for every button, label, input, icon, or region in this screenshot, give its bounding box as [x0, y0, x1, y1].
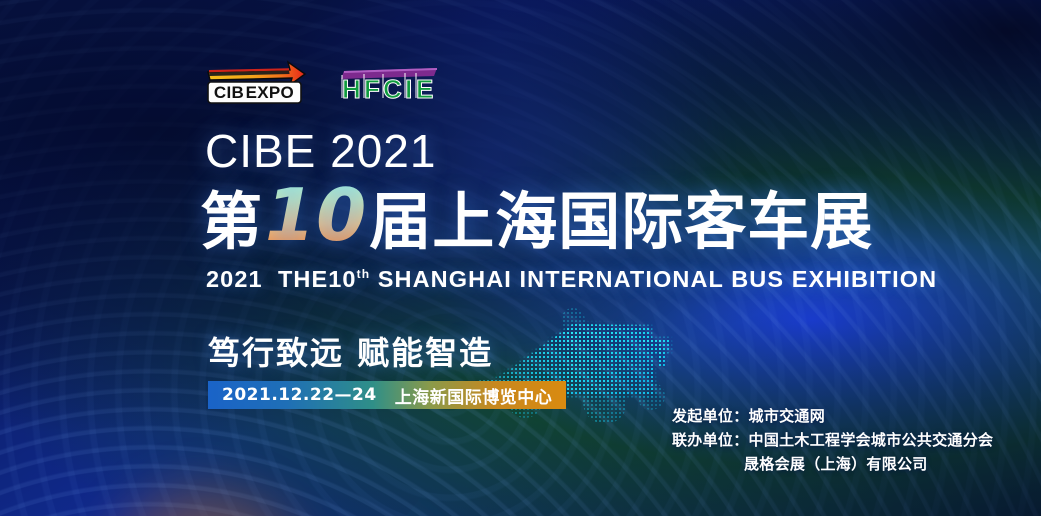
title-edition-number: 10 [263, 180, 369, 250]
event-dates: 2021.12.22—24 [222, 385, 377, 405]
svg-text:F: F [364, 74, 381, 104]
organizer-row-coorganizer-2: 晟格会展（上海）有限公司 [672, 452, 993, 476]
svg-text:I: I [405, 74, 413, 104]
subtitle-ordinal-suffix: th [357, 267, 371, 281]
organizer-row-coorganizer: 联办单位： 中国土木工程学会城市公共交通分会 [672, 428, 993, 452]
date-venue-bar: 2021.12.22—24 上海新国际博览中心 [208, 381, 566, 409]
organizers-block: 发起单位： 城市交通网 联办单位： 中国土木工程学会城市公共交通分会 晟格会展（… [672, 404, 993, 476]
svg-text:E: E [416, 74, 434, 104]
subtitle-rest: SHANGHAI INTERNATIONAL BUS EXHIBITION [378, 266, 937, 292]
svg-text:CIBEXPO: CIBEXPO [214, 83, 294, 102]
organizer-row-initiator: 发起单位： 城市交通网 [672, 404, 993, 428]
poster-content: CIBEXPO CIBEXPO H F C I E [0, 0, 1041, 516]
title-cn-prefix: 第 [200, 185, 263, 258]
svg-text:C: C [383, 74, 403, 104]
title-chinese: 第10届上海国际客车展 [200, 183, 873, 257]
organizer-value-initiator: 城市交通网 [749, 404, 826, 428]
organizer-label-coorganizer: 联办单位： [672, 428, 749, 452]
subtitle-year: 2021 [206, 266, 263, 292]
subtitle-english: 2021 THE10th SHANGHAI INTERNATIONAL BUS … [206, 266, 937, 293]
title-cn-suffix: 届上海国际客车展 [369, 185, 873, 258]
event-poster: CIBEXPO CIBEXPO H F C I E [0, 0, 1041, 516]
organizer-value-coorganizer: 中国土木工程学会城市公共交通分会 [749, 428, 994, 452]
slogan: 笃行致远 赋能智造 [208, 328, 493, 374]
event-venue: 上海新国际博览中心 [395, 383, 553, 408]
subtitle-edition: THE10 [278, 266, 357, 292]
logo-row: CIBEXPO CIBEXPO H F C I E [204, 58, 444, 108]
svg-text:H: H [342, 74, 362, 104]
organizer-value-coorganizer-2: 晟格会展（上海）有限公司 [672, 452, 928, 476]
organizer-label-initiator: 发起单位： [672, 404, 749, 428]
page-title: CIBE 2021 [205, 124, 436, 178]
cibexpo-logo[interactable]: CIBEXPO CIBEXPO [204, 58, 308, 108]
hfcie-logo[interactable]: H F C I E HFCIE [334, 62, 444, 104]
